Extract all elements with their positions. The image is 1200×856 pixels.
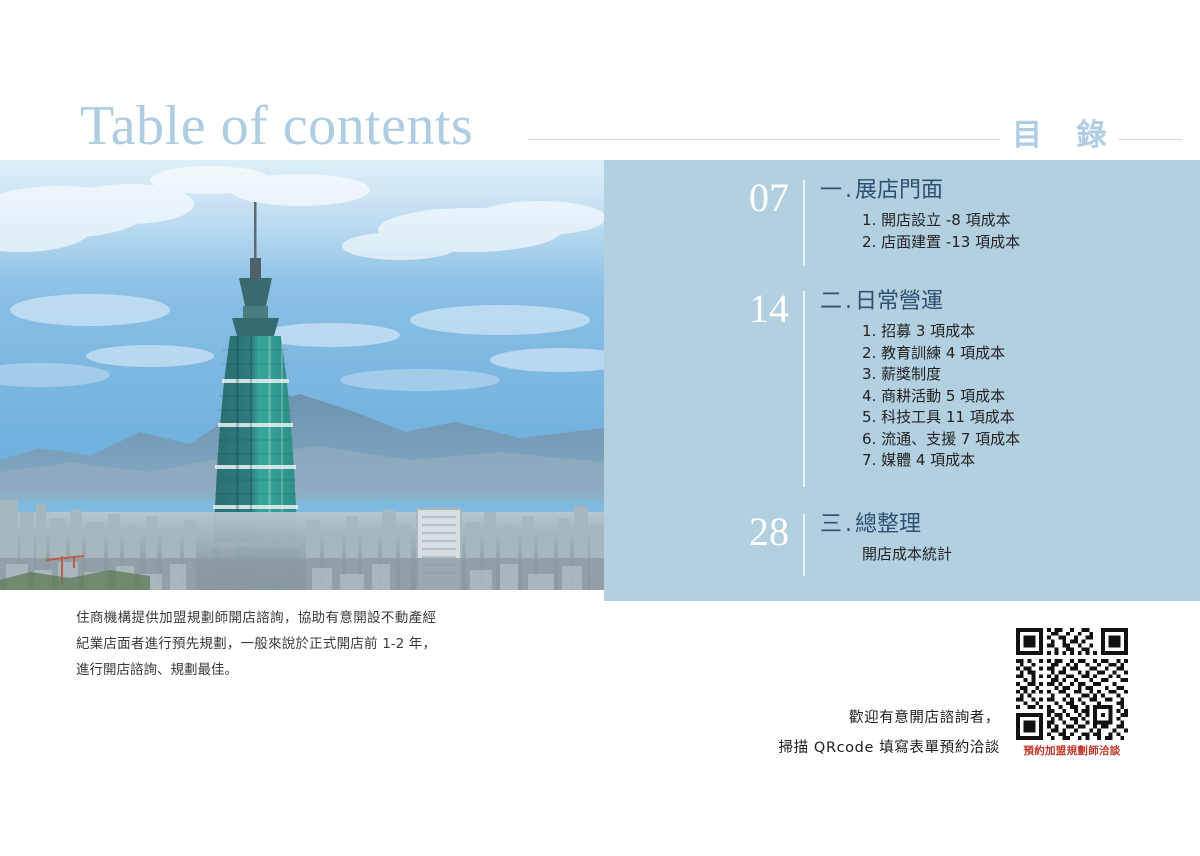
cta-text-block: 歡迎有意開店諮詢者， 掃描 QRcode 填寫表單預約洽談 (700, 703, 1000, 763)
toc-section-body: 二.日常營運 1. 招募 3 項成本 2. 教育訓練 4 項成本 3. 薪獎制度… (820, 287, 1180, 472)
toc-page-number: 28 (717, 510, 789, 554)
intro-paragraph: 住商機構提供加盟規劃師開店諮詢，協助有意開設不動產經紀業店面者進行預先規劃，一般… (76, 605, 436, 683)
toc-sub-item[interactable]: 2. 教育訓練 4 項成本 (820, 343, 1180, 365)
toc-section-body: 三.總整理 開店成本統計 (820, 510, 1180, 566)
toc-section-heading[interactable]: 三.總整理 (820, 510, 1180, 540)
toc-sub-item[interactable]: 6. 流通、支援 7 項成本 (820, 429, 1180, 451)
toc-section-title: 日常營運 (855, 289, 943, 314)
toc-sub-list: 開店成本統計 (820, 544, 1180, 566)
toc-section-divider (803, 514, 805, 576)
qr-code-block[interactable]: 預約加盟規劃師洽談 (1010, 628, 1134, 758)
page-title-cjk: 目 錄 (1012, 118, 1118, 154)
cta-line-1: 歡迎有意開店諮詢者， (700, 703, 1000, 733)
toc-sub-list: 1. 開店設立 -8 項成本 2. 店面建置 -13 項成本 (820, 210, 1180, 253)
toc-sub-item[interactable]: 1. 開店設立 -8 項成本 (820, 210, 1180, 232)
toc-section-heading[interactable]: 一.展店門面 (820, 176, 1180, 206)
header-divider-rule (528, 139, 1000, 140)
toc-sub-item[interactable]: 7. 媒體 4 項成本 (820, 450, 1180, 472)
toc-sub-item[interactable]: 2. 店面建置 -13 項成本 (820, 232, 1180, 254)
cta-line-2: 掃描 QRcode 填寫表單預約洽談 (700, 733, 1000, 763)
toc-page-number: 14 (717, 287, 789, 331)
toc-section-index: 一 (820, 178, 842, 203)
toc-sub-item[interactable]: 5. 科技工具 11 項成本 (820, 407, 1180, 429)
toc-panel: 07 一.展店門面 1. 開店設立 -8 項成本 2. 店面建置 -13 項成本… (604, 160, 1200, 601)
qr-code-icon[interactable] (1016, 628, 1128, 740)
toc-section-index: 二 (820, 289, 842, 314)
toc-section-dot: . (842, 512, 855, 537)
toc-section-index: 三 (820, 512, 842, 537)
toc-sub-item[interactable]: 4. 商耕活動 5 項成本 (820, 386, 1180, 408)
page-header: Table of contents 目 錄 (0, 0, 1200, 160)
toc-section-divider (803, 291, 805, 487)
header-divider-rule-right (1118, 139, 1182, 140)
toc-section-heading[interactable]: 二.日常營運 (820, 287, 1180, 317)
toc-section-dot: . (842, 289, 855, 314)
toc-sub-item[interactable]: 1. 招募 3 項成本 (820, 321, 1180, 343)
toc-section-title: 展店門面 (855, 178, 943, 203)
toc-section-body: 一.展店門面 1. 開店設立 -8 項成本 2. 店面建置 -13 項成本 (820, 176, 1180, 253)
toc-section-title: 總整理 (855, 512, 921, 537)
page-title: Table of contents (80, 98, 473, 154)
toc-page-number: 07 (717, 176, 789, 220)
toc-section-divider (803, 180, 805, 266)
qr-code-caption: 預約加盟規劃師洽談 (1010, 743, 1134, 758)
toc-sub-item[interactable]: 開店成本統計 (820, 544, 1180, 566)
toc-sub-item[interactable]: 3. 薪獎制度 (820, 364, 1180, 386)
toc-section-dot: . (842, 178, 855, 203)
toc-sub-list: 1. 招募 3 項成本 2. 教育訓練 4 項成本 3. 薪獎制度 4. 商耕活… (820, 321, 1180, 472)
taipei-101-skyline-photo (0, 160, 604, 590)
